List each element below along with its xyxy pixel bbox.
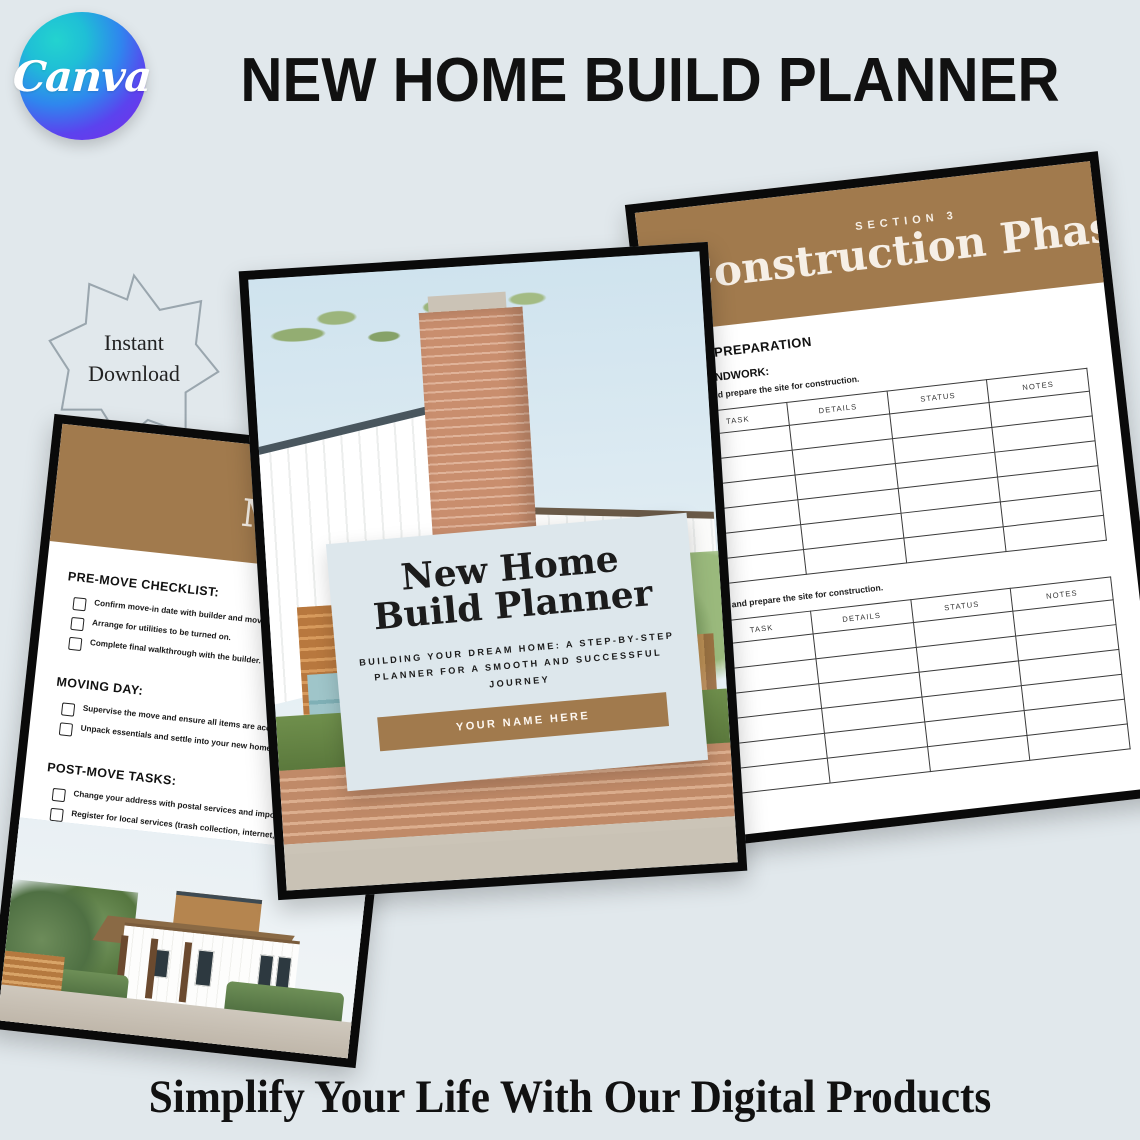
cover-subtitle: BUILDING YOUR DREAM HOME: A STEP-BY-STEP… — [354, 627, 683, 705]
badge-line-2: Download — [88, 360, 180, 388]
canva-logo-text: Canva — [11, 52, 152, 101]
task-table-2[interactable]: TASK DETAILS STATUS NOTES — [710, 576, 1131, 795]
listing-canvas: Canva NEW HOME BUILD PLANNER Instant Dow… — [0, 0, 1140, 1140]
checkbox-icon[interactable] — [68, 637, 82, 651]
canva-logo: Canva — [18, 12, 146, 140]
footer-tagline: Simplify Your Life With Our Digital Prod… — [46, 1062, 1095, 1132]
checkbox-icon[interactable] — [70, 617, 84, 631]
checkbox-icon[interactable] — [52, 788, 66, 802]
checkbox-icon[interactable] — [61, 702, 75, 716]
name-field[interactable]: YOUR NAME HERE — [377, 692, 669, 751]
cover-title: New Home Build Planner — [369, 538, 654, 637]
task-table-1[interactable]: TASK DETAILS STATUS NOTES — [686, 368, 1107, 587]
cover-card[interactable]: New Home Build Planner BUILDING YOUR DRE… — [326, 513, 708, 792]
page-title: NEW HOME BUILD PLANNER — [236, 40, 1063, 120]
checkbox-icon[interactable] — [72, 597, 86, 611]
checkbox-icon[interactable] — [59, 722, 73, 736]
badge-line-1: Instant — [104, 329, 164, 357]
